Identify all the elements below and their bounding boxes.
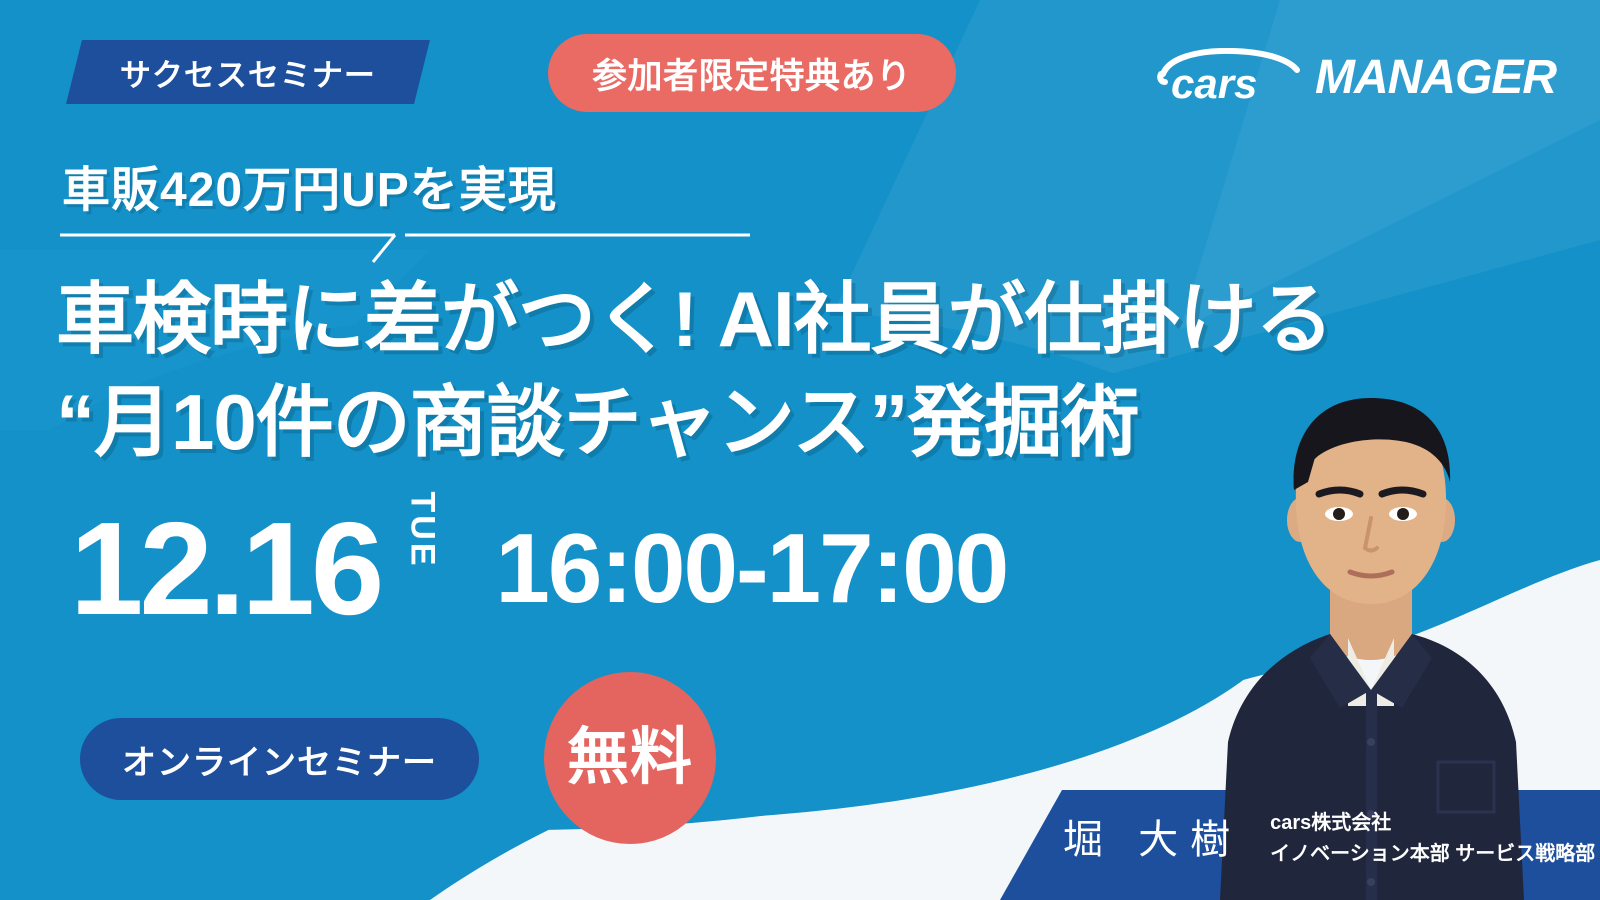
seminar-type-badge: サクセスセミナー [66,40,430,104]
price-badge: 無料 [544,672,716,844]
svg-text:cars: cars [1171,60,1257,102]
event-day-of-week: TUE [384,513,461,621]
speaker-name: 堀 大樹 [1063,807,1242,865]
speaker-company: cars株式会社 [1270,806,1595,835]
format-badge: オンラインセミナー [80,718,479,800]
event-time: 16:00-17:00 [495,519,1007,617]
seminar-banner: サクセスセミナー 参加者限定特典あり cars MANAGER 車販420万円U… [0,0,1600,900]
car-silhouette-icon: cars [1155,48,1305,102]
price-badge-label: 無料 [567,727,693,789]
lead-subtitle: 車販420万円UPを実現 [62,150,557,220]
event-day-of-week-label: TUE [406,492,440,569]
cars-wordmark: cars [1155,48,1305,102]
event-date: 12.16 [70,508,380,629]
schedule-block: 12.16 TUE 16:00-17:00 [70,508,1007,629]
benefit-badge: 参加者限定特典あり [548,34,956,112]
seminar-type-badge-label: サクセスセミナー [120,50,376,95]
cars-manager-logo: cars MANAGER [1155,48,1556,102]
divider-line [60,228,750,264]
headline-line-1: 車検時に差がつく! AI社員が仕掛ける [56,268,1516,371]
format-badge-label: オンラインセミナー [122,735,437,784]
benefit-badge-label: 参加者限定特典あり [592,48,912,99]
speaker-info: 堀 大樹 cars株式会社 イノベーション本部 サービス戦略部 [1063,806,1595,866]
speaker-department: イノベーション本部 サービス戦略部 [1270,837,1595,866]
manager-wordmark: MANAGER [1315,54,1556,102]
speaker-affiliation: cars株式会社 イノベーション本部 サービス戦略部 [1270,806,1595,866]
